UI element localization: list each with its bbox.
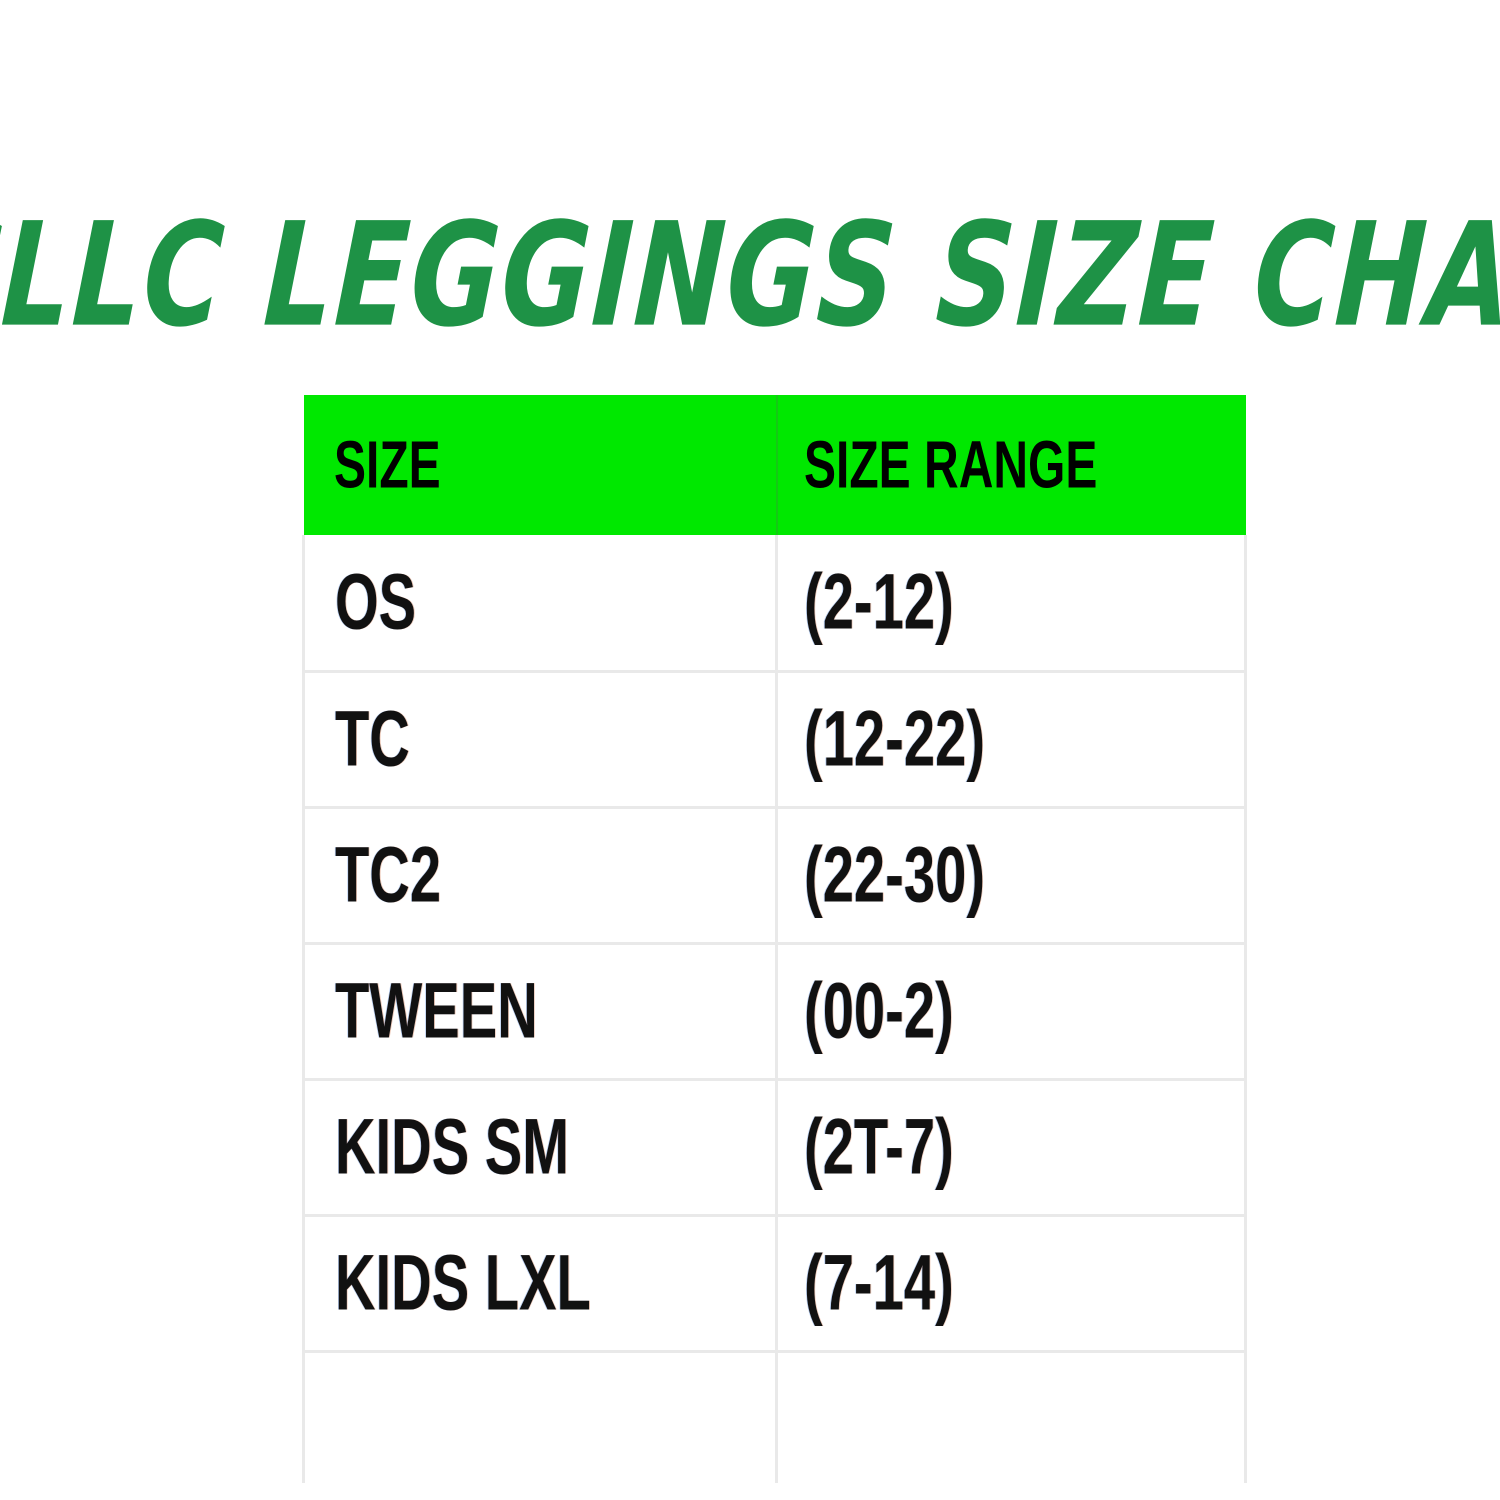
cell-size-range: (12-22) [777, 671, 1246, 807]
table-row: TC2 (22-30) [304, 807, 1246, 943]
page-title-container: GCLLC LEGGINGS SIZE CHART [0, 196, 1500, 356]
cell-size-range-value: (00-2) [804, 971, 954, 1050]
leggings-size-table: SIZE SIZE RANGE OS (2-12) TC [302, 395, 1247, 1483]
table-body: OS (2-12) TC (12-22) TC2 (22-3 [304, 535, 1246, 1483]
cell-size-range: (22-30) [777, 807, 1246, 943]
table-row: TC (12-22) [304, 671, 1246, 807]
table-row: OS (2-12) [304, 535, 1246, 671]
size-chart-page: GCLLC LEGGINGS SIZE CHART SIZE SIZE RANG… [0, 0, 1500, 1500]
page-title: GCLLC LEGGINGS SIZE CHART [0, 204, 1500, 347]
column-header-size-range: SIZE RANGE [777, 395, 1246, 535]
table-row: KIDS SM (2T-7) [304, 1079, 1246, 1215]
cell-size-range-value: (7-14) [804, 1243, 954, 1322]
cell-empty [304, 1351, 777, 1483]
cell-size: TWEEN [304, 943, 777, 1079]
cell-size: TC2 [304, 807, 777, 943]
cell-size-value: KIDS LXL [335, 1243, 591, 1322]
cell-size: OS [304, 535, 777, 671]
column-header-size: SIZE [304, 395, 777, 535]
cell-size-value: TWEEN [335, 971, 538, 1050]
table-row-empty-cutoff [304, 1351, 1246, 1483]
cell-size-range: (00-2) [777, 943, 1246, 1079]
cell-size-range-value: (2T-7) [804, 1107, 954, 1186]
table-row: TWEEN (00-2) [304, 943, 1246, 1079]
cell-size-range-value: (2-12) [804, 563, 954, 642]
cell-size-range: (7-14) [777, 1215, 1246, 1351]
cell-size-range-value: (22-30) [804, 835, 985, 914]
cell-size-range-value: (12-22) [804, 699, 985, 778]
cell-size-value: KIDS SM [335, 1107, 569, 1186]
table-header-row: SIZE SIZE RANGE [304, 395, 1246, 535]
cell-empty [777, 1351, 1246, 1483]
cell-size-value: OS [335, 563, 416, 642]
cell-size: KIDS SM [304, 1079, 777, 1215]
cell-size-value: TC [335, 699, 410, 778]
column-header-size-label: SIZE [334, 431, 441, 498]
cell-size-range: (2T-7) [777, 1079, 1246, 1215]
table-header: SIZE SIZE RANGE [304, 395, 1246, 535]
table-row: KIDS LXL (7-14) [304, 1215, 1246, 1351]
cell-size: KIDS LXL [304, 1215, 777, 1351]
column-header-size-range-label: SIZE RANGE [804, 431, 1097, 498]
cell-size-value: TC2 [335, 835, 441, 914]
cell-size-range: (2-12) [777, 535, 1246, 671]
cell-size: TC [304, 671, 777, 807]
